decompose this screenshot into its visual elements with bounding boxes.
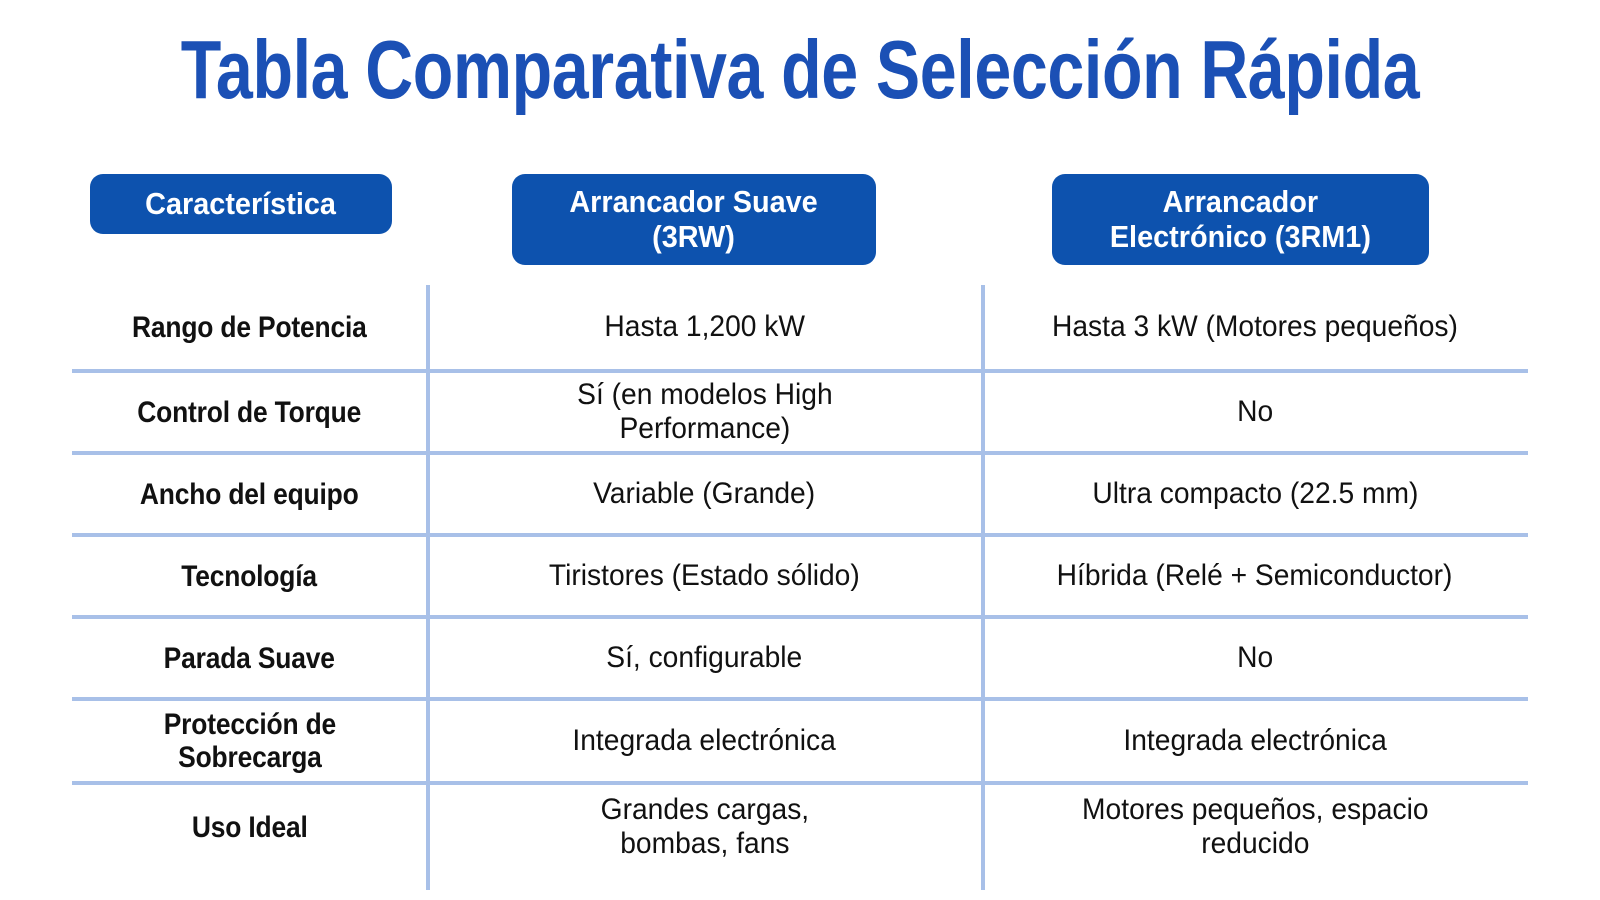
table-cell-arrancador-electronico-text: Integrada electrónica xyxy=(1123,724,1386,758)
table-cell-arrancador-electronico-text: No xyxy=(1237,395,1273,429)
comparison-table: Rango de Potencia Hasta 1,200 kW Hasta 3… xyxy=(72,285,1528,885)
table-cell-arrancador-electronico-line1: Motores pequeños, espacio xyxy=(1082,793,1428,827)
header-pill-arrancador-suave: Arrancador Suave (3RW) xyxy=(512,174,876,265)
table-cell-feature: Control de Torque xyxy=(72,373,427,451)
table-cell-arrancador-electronico: Motores pequeños, espacio reducido xyxy=(982,785,1528,869)
table-cell-arrancador-suave-text: Hasta 1,200 kW xyxy=(604,310,805,344)
table-cell-arrancador-suave-text: Integrada electrónica xyxy=(573,724,836,758)
table-cell-arrancador-suave: Integrada electrónica xyxy=(427,701,982,781)
table-cell-arrancador-suave: Variable (Grande) xyxy=(427,455,982,533)
table-cell-feature-lines: Protección de Sobrecarga xyxy=(152,708,348,774)
header-pill-arrancador-electronico-line1: Arrancador xyxy=(1110,185,1371,220)
table-cell-feature-text: Ancho del equipo xyxy=(140,478,359,511)
table-cell-arrancador-suave-line2: Performance) xyxy=(577,412,833,446)
comparison-table-page: Tabla Comparativa de Selección Rápida Ca… xyxy=(0,0,1600,900)
header-pill-arrancador-suave-line1: Arrancador Suave xyxy=(570,185,818,220)
table-cell-arrancador-suave-lines: Sí (en modelos High Performance) xyxy=(569,378,841,445)
page-title: Tabla Comparativa de Selección Rápida xyxy=(160,22,1440,118)
table-cell-feature-line1: Protección de xyxy=(163,708,335,741)
table-cell-arrancador-electronico-text: Híbrida (Relé + Semiconductor) xyxy=(1057,559,1453,593)
table-cell-feature-text: Parada Suave xyxy=(164,642,335,675)
table-cell-feature: Uso Ideal xyxy=(72,785,427,869)
table-cell-feature-text: Rango de Potencia xyxy=(132,311,367,344)
table-cell-arrancador-suave-text: Tiristores (Estado sólido) xyxy=(549,559,860,593)
table-cell-feature: Ancho del equipo xyxy=(72,455,427,533)
table-cell-feature-line2: Sobrecarga xyxy=(163,741,335,774)
table-cell-arrancador-suave-text: Variable (Grande) xyxy=(593,477,815,511)
table-cell-arrancador-suave: Grandes cargas, bombas, fans xyxy=(427,785,982,869)
table-cell-arrancador-suave-line2: bombas, fans xyxy=(600,827,808,861)
table-cell-arrancador-electronico: Híbrida (Relé + Semiconductor) xyxy=(982,537,1528,615)
table-cell-feature: Protección de Sobrecarga xyxy=(72,701,427,781)
header-pill-arrancador-electronico-line2: Electrónico (3RM1) xyxy=(1110,220,1371,255)
table-cell-arrancador-electronico-text: Hasta 3 kW (Motores pequeños) xyxy=(1052,310,1458,344)
header-pill-arrancador-suave-lines: Arrancador Suave (3RW) xyxy=(560,185,827,254)
table-cell-arrancador-electronico-lines: Motores pequeños, espacio reducido xyxy=(1071,793,1440,860)
table-row: Rango de Potencia Hasta 1,200 kW Hasta 3… xyxy=(72,285,1528,373)
table-cell-arrancador-electronico: No xyxy=(982,373,1528,451)
header-pill-arrancador-electronico: Arrancador Electrónico (3RM1) xyxy=(1052,174,1429,265)
table-cell-feature-text: Control de Torque xyxy=(138,396,362,429)
table-cell-feature: Rango de Potencia xyxy=(72,285,427,369)
table-cell-arrancador-suave: Sí (en modelos High Performance) xyxy=(427,373,982,451)
table-row: Control de Torque Sí (en modelos High Pe… xyxy=(72,373,1528,455)
header-pill-caracteristica: Característica xyxy=(90,174,392,234)
header-pill-arrancador-electronico-lines: Arrancador Electrónico (3RM1) xyxy=(1100,185,1381,254)
table-cell-arrancador-suave-text: Sí, configurable xyxy=(607,641,803,675)
table-cell-feature-text: Uso Ideal xyxy=(192,811,308,844)
table-row: Protección de Sobrecarga Integrada elect… xyxy=(72,701,1528,785)
table-row: Ancho del equipo Variable (Grande) Ultra… xyxy=(72,455,1528,537)
table-cell-arrancador-electronico-line2: reducido xyxy=(1082,827,1428,861)
table-cell-arrancador-electronico-text: Ultra compacto (22.5 mm) xyxy=(1092,477,1418,511)
table-cell-arrancador-electronico: No xyxy=(982,619,1528,697)
header-pill-arrancador-suave-line2: (3RW) xyxy=(570,220,818,255)
table-row: Uso Ideal Grandes cargas, bombas, fans M… xyxy=(72,785,1528,869)
table-cell-arrancador-electronico: Integrada electrónica xyxy=(982,701,1528,781)
table-row: Parada Suave Sí, configurable No xyxy=(72,619,1528,701)
table-cell-feature: Parada Suave xyxy=(72,619,427,697)
table-cell-feature: Tecnología xyxy=(72,537,427,615)
table-cell-arrancador-suave-line1: Grandes cargas, xyxy=(600,793,808,827)
table-cell-arrancador-electronico-text: No xyxy=(1237,641,1273,675)
table-cell-arrancador-suave-line1: Sí (en modelos High xyxy=(577,378,833,412)
table-cell-arrancador-suave: Tiristores (Estado sólido) xyxy=(427,537,982,615)
table-cell-arrancador-electronico: Hasta 3 kW (Motores pequeños) xyxy=(982,285,1528,369)
table-cell-arrancador-suave: Sí, configurable xyxy=(427,619,982,697)
header-pill-caracteristica-label: Característica xyxy=(146,187,337,222)
table-cell-arrancador-suave-lines: Grandes cargas, bombas, fans xyxy=(594,793,816,860)
table-cell-arrancador-electronico: Ultra compacto (22.5 mm) xyxy=(982,455,1528,533)
table-row: Tecnología Tiristores (Estado sólido) Hí… xyxy=(72,537,1528,619)
table-cell-arrancador-suave: Hasta 1,200 kW xyxy=(427,285,982,369)
table-cell-feature-text: Tecnología xyxy=(182,560,318,593)
